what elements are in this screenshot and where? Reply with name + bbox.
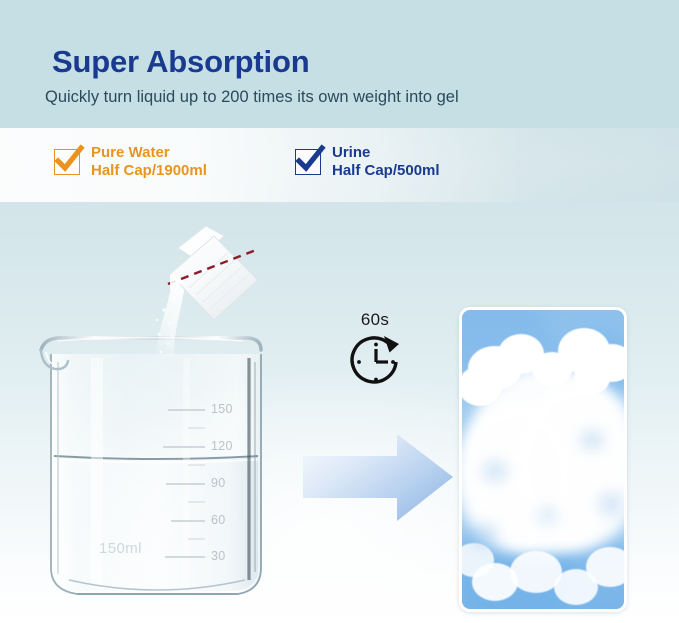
- feature-line2: Half Cap/1900ml: [91, 162, 207, 180]
- illustration-stage: 150 120 90 60 30 150ml: [0, 202, 679, 623]
- page-title: Super Absorption: [52, 44, 309, 80]
- feature-item-urine: Urine Half Cap/500ml: [295, 144, 440, 179]
- feature-item-pure-water: Pure Water Half Cap/1900ml: [54, 144, 207, 179]
- feature-line1: Pure Water: [91, 144, 207, 162]
- timer-label: 60s: [327, 310, 423, 330]
- powder-sachet-pouring-icon: [148, 224, 273, 359]
- page-subtitle: Quickly turn liquid up to 200 times its …: [45, 88, 459, 107]
- product-infographic: Super Absorption Quickly turn liquid up …: [0, 0, 679, 623]
- glass-beaker-icon: 150 120 90 60 30 150ml: [33, 328, 283, 603]
- checkbox-checked-orange-icon: [54, 149, 80, 175]
- beaker-volume-label: 150ml: [99, 540, 142, 557]
- checkbox-checked-navy-icon: [295, 149, 321, 175]
- beaker-graduation-120: 120: [211, 439, 233, 453]
- header-band: Super Absorption Quickly turn liquid up …: [0, 0, 679, 128]
- beaker-graduation-150: 150: [211, 402, 233, 416]
- beaker-graduation-60: 60: [211, 513, 226, 527]
- feature-line1: Urine: [332, 144, 440, 162]
- right-arrow-icon: [301, 430, 456, 525]
- beaker-graduation-90: 90: [211, 476, 226, 490]
- feature-line2: Half Cap/500ml: [332, 162, 440, 180]
- feature-text-urine: Urine Half Cap/500ml: [332, 144, 440, 179]
- feature-band: Pure Water Half Cap/1900ml Urine Half Ca…: [0, 128, 679, 202]
- beaker-graduation-30: 30: [211, 549, 226, 563]
- gel-crystals-photo: [459, 307, 627, 612]
- clock-60s-icon: 60s: [327, 310, 423, 402]
- feature-text-pure-water: Pure Water Half Cap/1900ml: [91, 144, 207, 179]
